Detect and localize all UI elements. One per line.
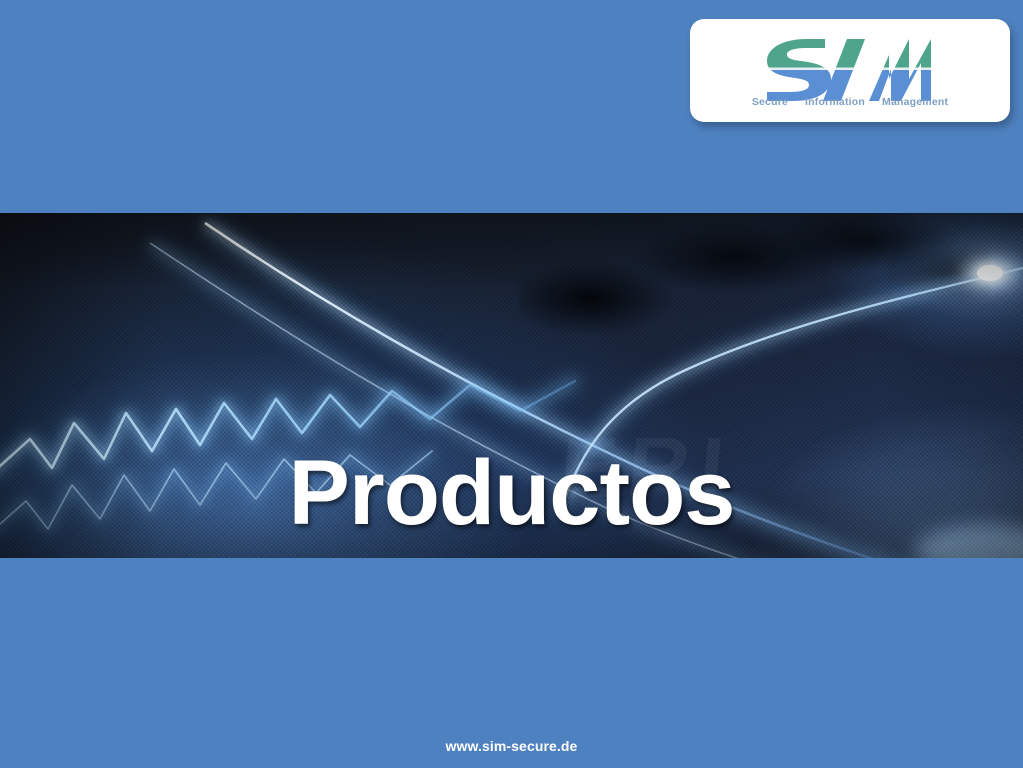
footer-website-url[interactable]: www.sim-secure.de (0, 738, 1023, 754)
logo-tagline: Secure Information Management (752, 96, 948, 108)
company-logo-card: Secure Information Management (690, 19, 1010, 122)
tagline-word-secure: Secure (752, 96, 788, 108)
sim-logo-icon (761, 33, 939, 105)
tagline-word-information: Information (805, 96, 865, 108)
tagline-word-management: Management (882, 96, 948, 108)
presentation-slide: ERI (0, 0, 1023, 768)
slide-title: Productos (0, 447, 1023, 539)
